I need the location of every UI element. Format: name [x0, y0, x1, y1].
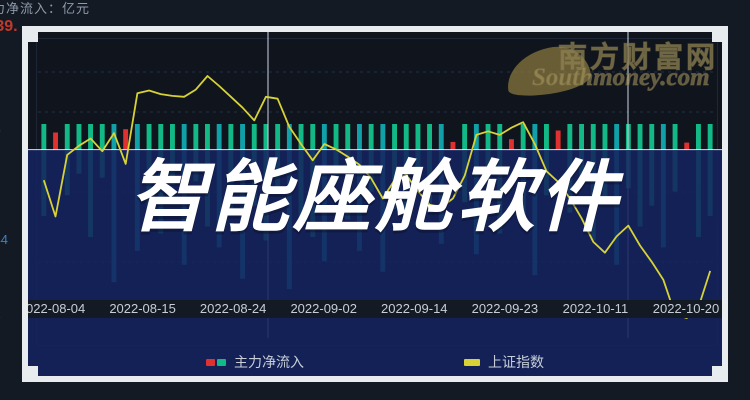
x-axis-tick: 2022-09-23 [472, 301, 539, 316]
legend-label: 上证指数 [488, 352, 544, 372]
legend-marker-icon [206, 359, 215, 366]
legend-label: 主力净流入 [234, 352, 304, 372]
chart-legend: 主力净流入 上证指数 [0, 350, 750, 374]
legend-item[interactable]: 主力净流入 [206, 352, 304, 372]
y-axis-tick: -25 [0, 122, 1, 137]
y-axis-tick: -644 [0, 232, 8, 247]
chart-canvas: 主力净流入：亿元 -39. 2022-08-042022-08-152022-0… [0, 0, 750, 400]
page-title: 智能座舱软件 [0, 158, 750, 236]
x-axis-tick: 2022-10-11 [563, 301, 629, 316]
x-axis-tick: 2022-08-04 [28, 301, 85, 316]
legend-item[interactable]: 上证指数 [464, 352, 544, 372]
x-axis-tick: 2022-09-14 [381, 301, 448, 316]
x-axis-tick: 2022-08-24 [200, 301, 267, 316]
legend-marker-icon [464, 359, 480, 366]
x-axis-tick: 2022-09-02 [290, 301, 357, 316]
x-axis-tick: 2022-10-20 [653, 301, 720, 316]
chart-header-value: -39. [0, 18, 18, 36]
y-axis-tick: -62 [0, 306, 1, 321]
x-axis: 2022-08-042022-08-152022-08-242022-09-02… [28, 300, 722, 318]
x-axis-tick: 2022-08-15 [109, 301, 176, 316]
legend-marker-icon [217, 359, 226, 366]
chart-header-label: 主力净流入：亿元 [0, 0, 90, 17]
